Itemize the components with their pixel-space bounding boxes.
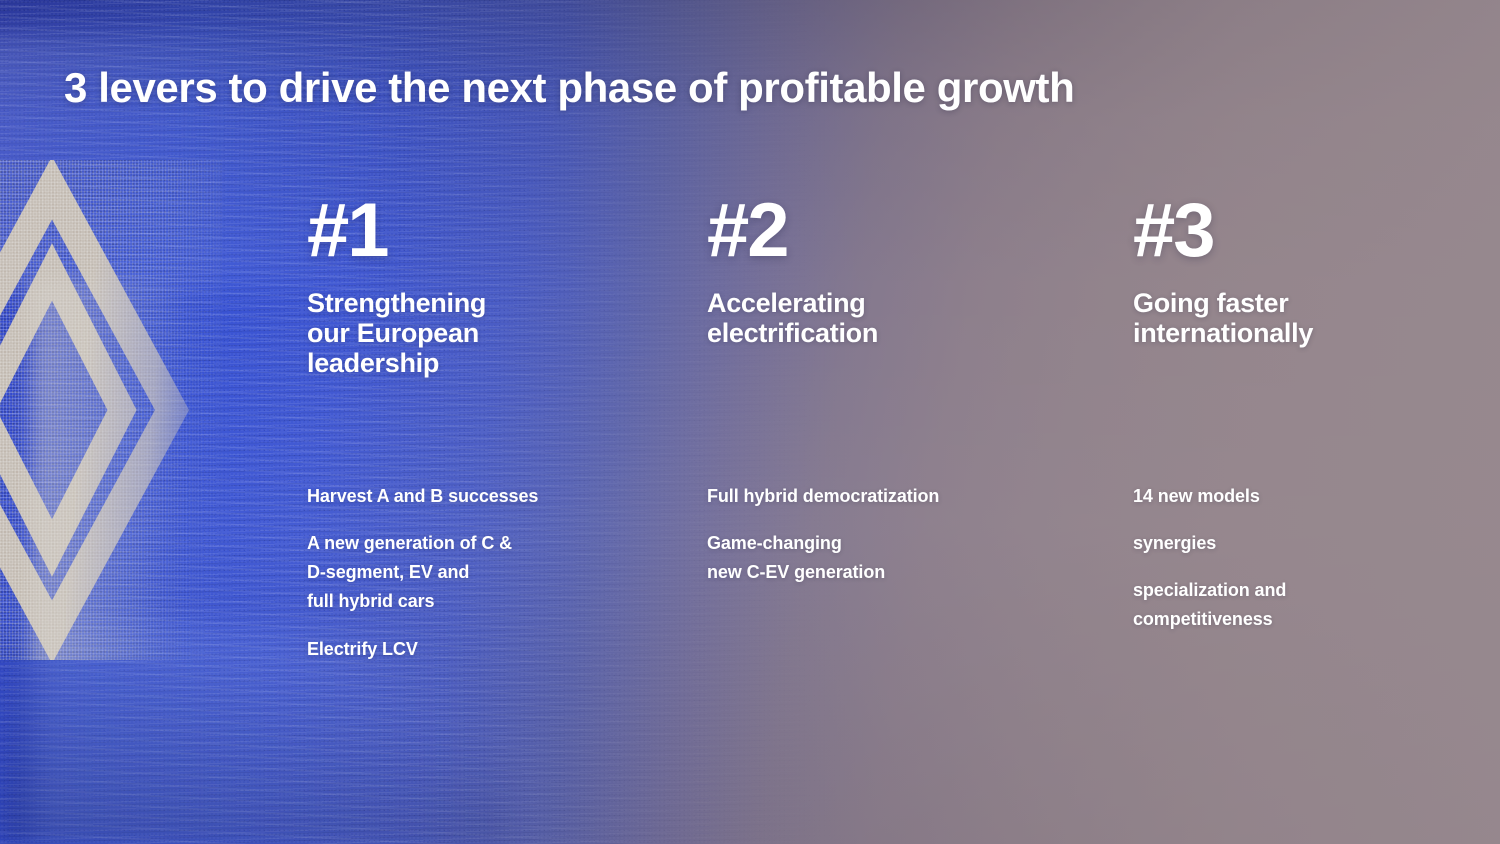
lever-column-2: #2 Accelerating electrification Full hyb… (707, 196, 1133, 379)
lever-heading-1-line-3: leadership (307, 348, 707, 378)
lever-rank-2: #2 (707, 196, 1133, 266)
list-item: Full hybrid democratization (707, 482, 1133, 511)
list-item: specialization andcompetitiveness (1133, 576, 1473, 634)
presentation-slide: 3 levers to drive the next phase of prof… (0, 0, 1500, 844)
lever-heading-1-line-2: our European (307, 318, 707, 348)
lever-rank-3: #3 (1133, 196, 1473, 266)
lever-heading-1-line-1: Strengthening (307, 288, 707, 318)
levers-columns: #1 Strengthening our European leadership… (0, 196, 1500, 379)
page-title: 3 levers to drive the next phase of prof… (64, 66, 1454, 110)
lever-heading-2-line-2: electrification (707, 318, 1133, 348)
list-item: Harvest A and B successes (307, 482, 707, 511)
list-item: A new generation of C &D-segment, EV and… (307, 529, 707, 616)
lever-heading-3-line-2: internationally (1133, 318, 1473, 348)
lever-heading-3: Going faster internationally (1133, 288, 1473, 348)
list-item: Electrify LCV (307, 635, 707, 664)
lever-points-1: Harvest A and B successes A new generati… (307, 482, 707, 664)
lever-heading-1: Strengthening our European leadership (307, 288, 707, 379)
list-item: synergies (1133, 529, 1473, 558)
background-mauve-wash (570, 0, 1500, 844)
lever-points-3: 14 new models synergies specialization a… (1133, 482, 1473, 635)
lever-column-3: #3 Going faster internationally 14 new m… (1133, 196, 1473, 379)
background-dark-corner (0, 641, 510, 844)
list-item: 14 new models (1133, 482, 1473, 511)
lever-heading-2: Accelerating electrification (707, 288, 1133, 348)
lever-heading-3-line-1: Going faster (1133, 288, 1473, 318)
lever-points-2: Full hybrid democratization Game-changin… (707, 482, 1133, 587)
lever-column-1: #1 Strengthening our European leadership… (307, 196, 707, 379)
list-item: Game-changingnew C-EV generation (707, 529, 1133, 587)
lever-heading-2-line-1: Accelerating (707, 288, 1133, 318)
lever-rank-1: #1 (307, 196, 707, 266)
